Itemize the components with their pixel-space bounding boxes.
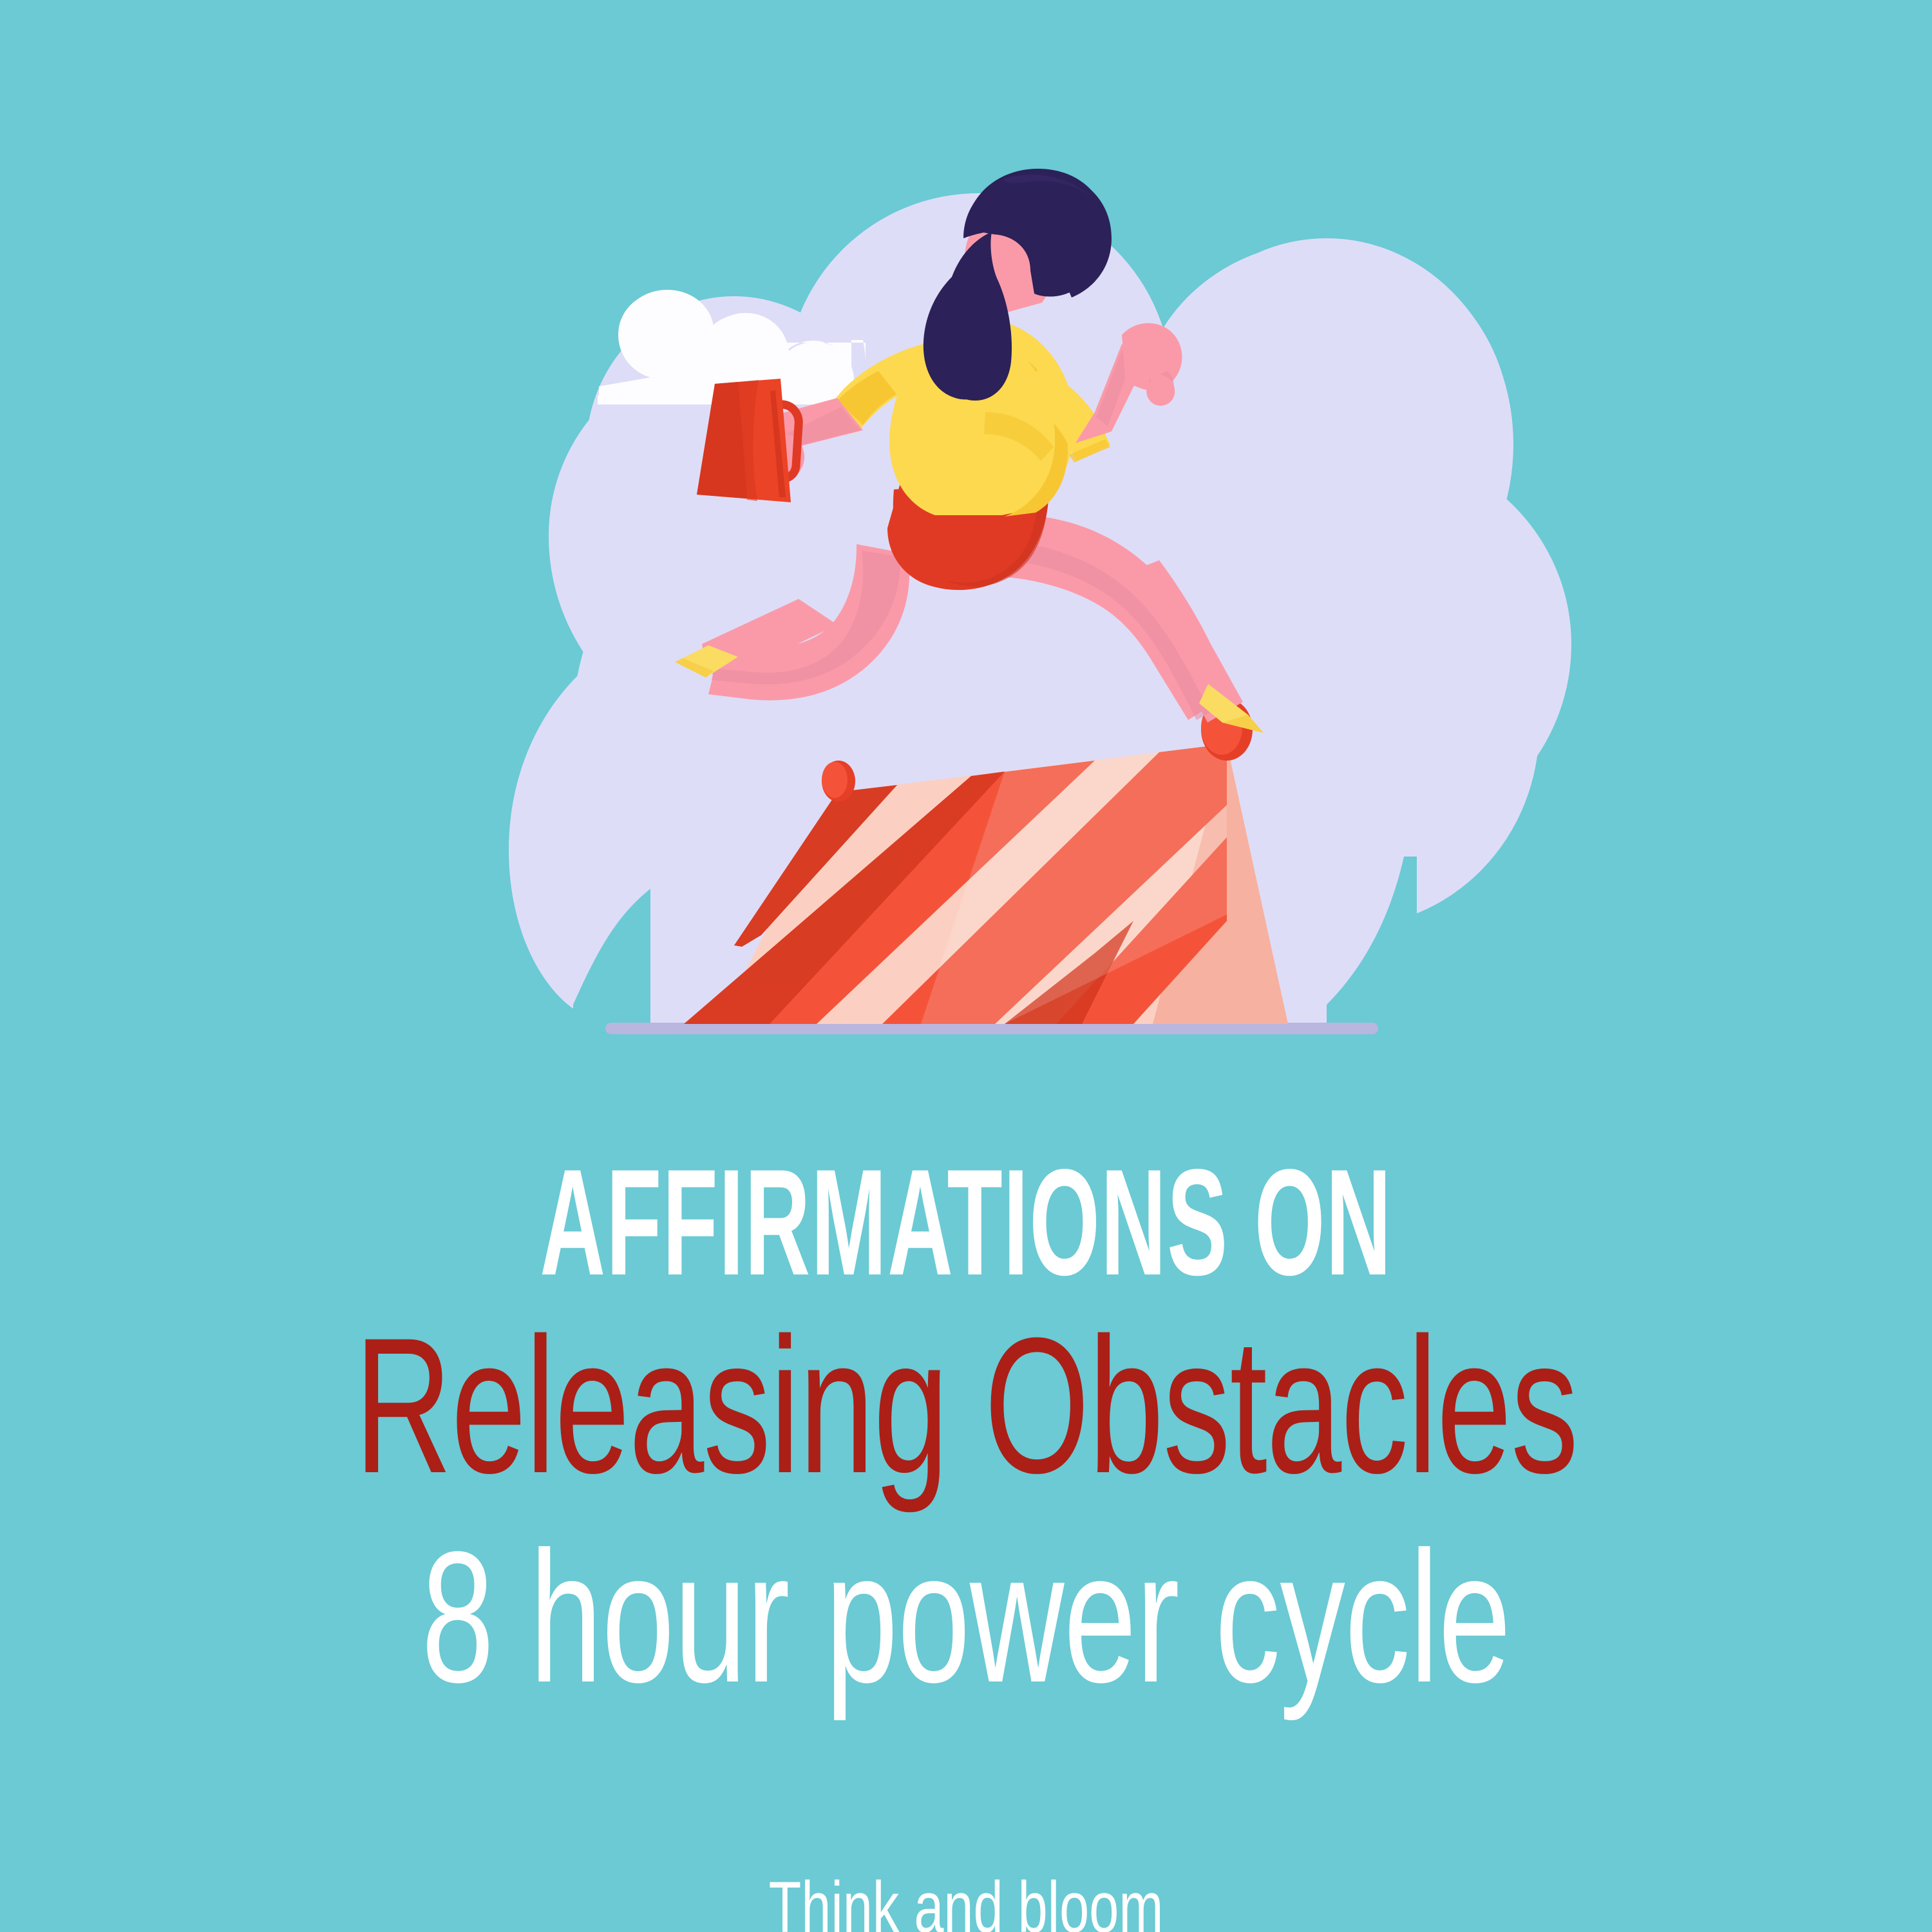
byline-line: Think and bloom [251,1871,1681,1932]
audiobook-cover: AFFIRMATIONS ON Releasing Obstacles 8 ho… [0,0,1932,1932]
hero-illustration [0,0,1932,1127]
kicker-line: AFFIRMATIONS ON [386,1153,1546,1292]
ground-line [605,1023,1378,1034]
title-block: AFFIRMATIONS ON Releasing Obstacles 8 ho… [0,1153,1932,1932]
below-ground-fill [0,1030,1932,1127]
page-title: Releasing Obstacles [290,1309,1642,1502]
subtitle-line: 8 hour power cycle [290,1524,1642,1710]
